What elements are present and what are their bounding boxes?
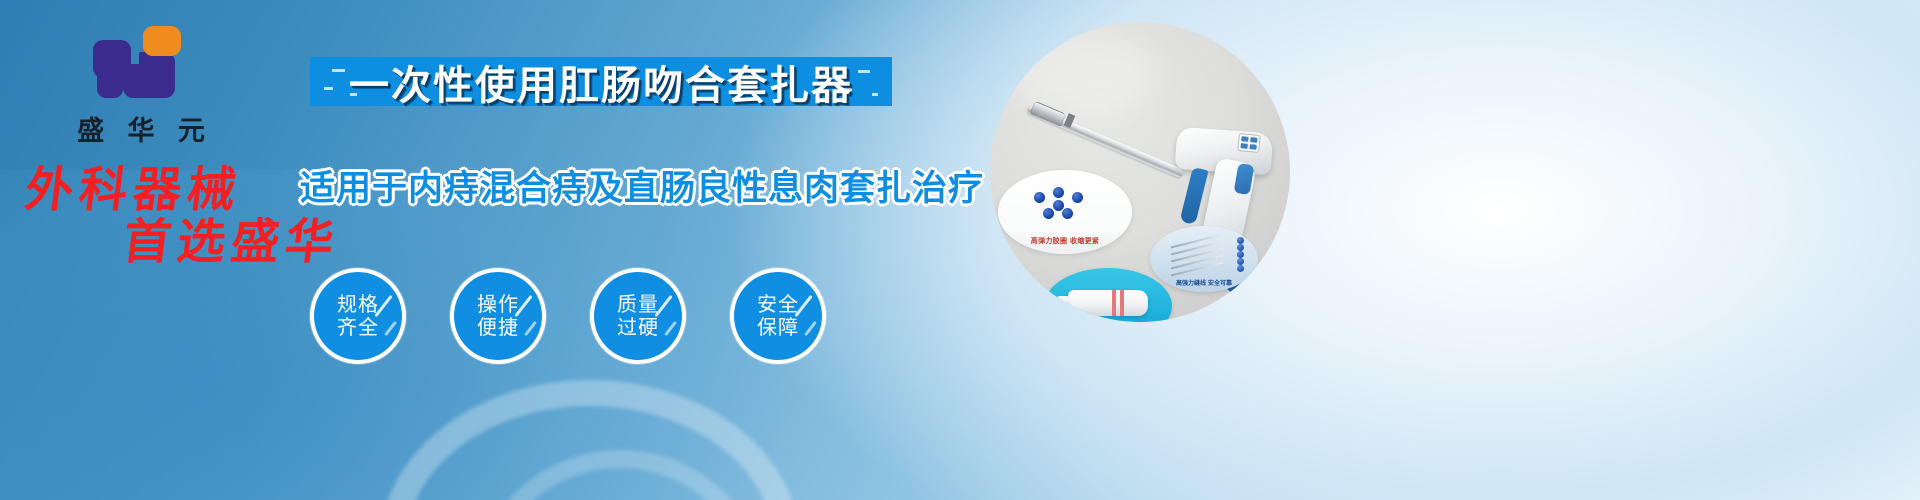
device-control-panel bbox=[1237, 133, 1261, 153]
sparkle-icon bbox=[872, 93, 878, 96]
feature-badge-3[interactable]: 质量 过硬 bbox=[590, 268, 686, 364]
sparkle-icon bbox=[324, 87, 333, 90]
rubber-ring-icon bbox=[1053, 187, 1064, 198]
logo-block-e bbox=[97, 70, 123, 98]
brand-logo[interactable]: 盛 华 元 bbox=[56, 26, 226, 148]
inset-needles: 高强力缝线 安全可靠 bbox=[1150, 226, 1258, 292]
panel-led bbox=[1250, 137, 1257, 143]
feature-badge-3-line2: 过硬 bbox=[617, 316, 659, 339]
panel-led bbox=[1249, 144, 1256, 150]
inset-rings-caption: 高弹力胶圈 收缩更紧 bbox=[998, 236, 1132, 246]
rubber-ring-icon bbox=[1053, 200, 1064, 211]
logo-block-accent bbox=[143, 26, 181, 56]
needle-head-icon bbox=[1237, 265, 1244, 272]
panel-led bbox=[1241, 136, 1248, 142]
headline-title: 一次性使用肛肠吻合套扎器 bbox=[349, 53, 853, 111]
subtitle-text: 适用于内痔混合痔及直肠良性息肉套扎治疗 bbox=[300, 160, 984, 211]
sparkle-icon bbox=[332, 69, 345, 72]
inset-teal-device bbox=[1044, 268, 1172, 322]
panel-led bbox=[1240, 143, 1247, 149]
rubber-ring-icon bbox=[1072, 192, 1083, 203]
slogan-line-2: 首选盛华 bbox=[120, 202, 345, 272]
feature-badge-4-line1: 安全 bbox=[757, 293, 799, 316]
feature-badge-4-line2: 保障 bbox=[757, 316, 799, 339]
teal-device-tip bbox=[1056, 296, 1070, 310]
rubber-ring-icon bbox=[1062, 208, 1073, 219]
feature-badge-list: 规格 齐全 操作 便捷 质量 过硬 安全 保障 bbox=[310, 268, 826, 364]
feature-badge-1-line2: 齐全 bbox=[337, 316, 379, 339]
brand-logo-text: 盛 华 元 bbox=[56, 109, 226, 148]
needle-head-icon bbox=[1237, 258, 1244, 265]
teal-device-band bbox=[1120, 290, 1124, 316]
device-trigger bbox=[1179, 167, 1208, 225]
needle-head-icon bbox=[1237, 237, 1244, 244]
product-photo[interactable]: 高弹力胶圈 收缩更紧 高强力缝线 安全可靠 bbox=[990, 22, 1290, 322]
inset-needles-caption: 高强力缝线 安全可靠 bbox=[1150, 278, 1258, 287]
brand-logo-icon bbox=[93, 26, 189, 102]
needle-head-icon bbox=[1237, 244, 1244, 251]
feature-badge-2[interactable]: 操作 便捷 bbox=[450, 268, 546, 364]
photo-gloss bbox=[1008, 32, 1158, 116]
inset-rubber-rings: 高弹力胶圈 收缩更紧 bbox=[998, 170, 1132, 254]
slash-icon bbox=[664, 321, 677, 336]
headline-band: 一次性使用肛肠吻合套扎器 bbox=[310, 57, 892, 106]
feature-badge-2-line2: 便捷 bbox=[477, 316, 519, 339]
slash-icon bbox=[804, 321, 817, 336]
needle-head-icon bbox=[1237, 251, 1244, 258]
feature-badge-1[interactable]: 规格 齐全 bbox=[310, 268, 406, 364]
sparkle-icon bbox=[858, 70, 870, 73]
feature-badge-2-line1: 操作 bbox=[477, 293, 519, 316]
teal-device-body bbox=[1068, 290, 1148, 316]
slash-icon bbox=[384, 321, 397, 336]
rubber-ring-icon bbox=[1043, 208, 1054, 219]
rubber-ring-icon bbox=[1034, 192, 1045, 203]
feature-badge-3-line1: 质量 bbox=[617, 293, 659, 316]
teal-device-band bbox=[1112, 290, 1116, 316]
needle-icon bbox=[1171, 261, 1224, 276]
feature-badge-1-line1: 规格 bbox=[337, 293, 379, 316]
promo-banner: 盛 华 元 外科器械 首选盛华 一次性使用肛肠吻合套扎器 适用于内痔混合痔及直肠… bbox=[0, 0, 1920, 500]
logo-block-c bbox=[139, 52, 175, 98]
feature-badge-4[interactable]: 安全 保障 bbox=[730, 268, 826, 364]
slash-icon bbox=[524, 321, 537, 336]
